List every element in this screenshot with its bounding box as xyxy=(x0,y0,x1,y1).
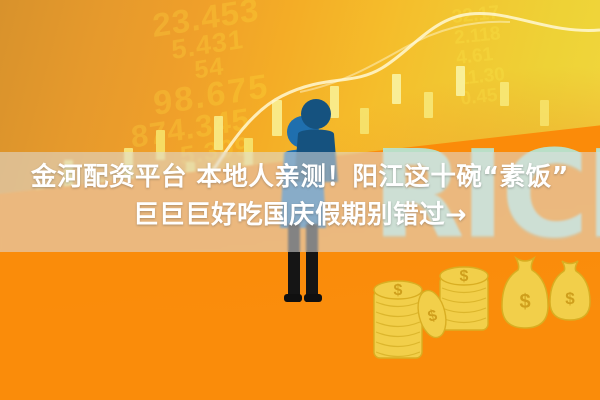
money-bag-icon: $ xyxy=(546,256,594,324)
svg-text:$: $ xyxy=(519,291,530,313)
banner-image: 23.453 5.431 54 98.675 874.345 5.309 7.3… xyxy=(0,0,600,400)
headline-line-2: 巨巨巨好吃国庆假期别错过→ xyxy=(0,196,600,234)
svg-text:$: $ xyxy=(565,289,575,308)
svg-text:$: $ xyxy=(460,268,469,285)
headline-line-1: 金河配资平台 本地人亲测！阳江这十碗“素饭” xyxy=(0,158,600,196)
svg-text:$: $ xyxy=(394,282,403,299)
headline: 金河配资平台 本地人亲测！阳江这十碗“素饭” 巨巨巨好吃国庆假期别错过→ xyxy=(0,158,600,234)
coin-icon: $ xyxy=(412,288,452,340)
